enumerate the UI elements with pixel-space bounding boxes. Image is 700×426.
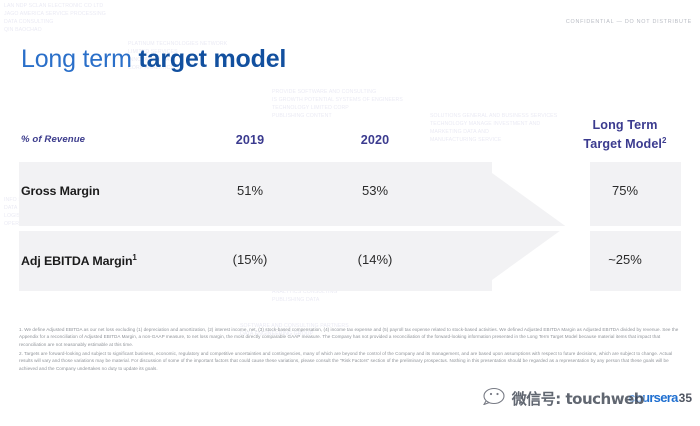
wechat-watermark: 微信号: touchweb [483, 387, 644, 410]
cell-adj-ebitda-margin-2019: (15%) [200, 252, 300, 267]
table-header-row: % of Revenue 2019 2020 Long Term Target … [0, 112, 700, 158]
table-row-label-header: % of Revenue [21, 134, 85, 145]
column-header-2020: 2020 [325, 133, 425, 147]
cell-gross-margin-2019: 51% [200, 183, 300, 198]
slide-canvas: LAN NDP SCLAN ELECTRONIC CO LTD JAGO AME… [0, 0, 700, 426]
table-row-label-adj-ebitda-margin: Adj EBITDA Margin1 [21, 253, 137, 268]
page-title-light: Long term [21, 45, 139, 73]
background-watermark-text: LAN NDP SCLAN ELECTRONIC CO LTD JAGO AME… [4, 2, 124, 34]
footnote-2: 2. Targets are forward-looking and subje… [19, 350, 679, 372]
table-row-label-gross-margin: Gross Margin [21, 184, 100, 198]
coursera-logo: coursera [628, 390, 677, 405]
page-title: Long term target model [21, 44, 286, 74]
column-header-long-term-target-model: Long Term Target Model2 [562, 118, 688, 152]
row-label-footnote-marker: 1 [132, 253, 136, 262]
page-title-bold: target model [139, 45, 287, 73]
page-number: 35 [679, 391, 692, 405]
cell-gross-margin-target: 75% [562, 183, 688, 198]
footer-brand: coursera 35 [628, 390, 692, 405]
column-header-ltm-line2: Target Model [583, 137, 662, 151]
confidential-notice: CONFIDENTIAL — DO NOT DISTRIBUTE [566, 19, 692, 25]
target-model-table: % of Revenue 2019 2020 Long Term Target … [0, 112, 700, 302]
footnote-1: 1. We define Adjusted EBITDA as our net … [19, 326, 679, 348]
column-header-ltm-footnote-marker: 2 [662, 136, 667, 145]
wechat-face-icon [483, 387, 509, 410]
row-label-text: Gross Margin [21, 184, 100, 198]
row-label-text: Adj EBITDA Margin [21, 254, 132, 268]
cell-adj-ebitda-margin-target: ~25% [562, 252, 688, 267]
wechat-watermark-text: 微信号: touchweb [512, 388, 644, 409]
column-header-2019: 2019 [200, 133, 300, 147]
cell-adj-ebitda-margin-2020: (14%) [325, 252, 425, 267]
cell-gross-margin-2020: 53% [325, 183, 425, 198]
column-header-ltm-line1: Long Term [592, 118, 657, 132]
footnotes-block: 1. We define Adjusted EBITDA as our net … [19, 326, 679, 373]
